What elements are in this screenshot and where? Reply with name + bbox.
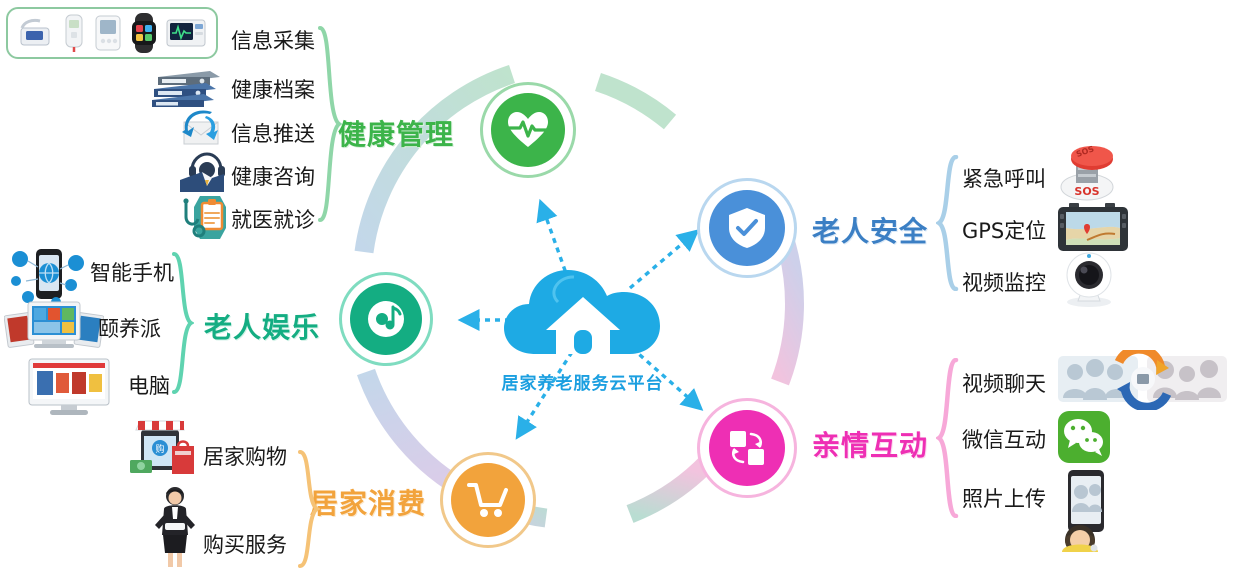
service-person-icon bbox=[152, 485, 198, 569]
center-platform-node[interactable]: 居家养老服务云平台 bbox=[500, 262, 665, 392]
entertain-item-1-label: 颐养派 bbox=[98, 313, 161, 343]
handheld-monitor-icon bbox=[94, 14, 122, 52]
family-item-2-label: 照片上传 bbox=[962, 483, 1046, 513]
stethoscope-clipboard-icon bbox=[180, 195, 228, 241]
safety-bracket bbox=[936, 155, 960, 291]
center-caption: 居家养老服务云平台 bbox=[500, 369, 665, 394]
sos-button-icon: SOS SOS bbox=[1056, 145, 1118, 203]
health-item-1-label: 健康档案 bbox=[231, 74, 315, 104]
hub-consume-icon-circle bbox=[451, 463, 525, 537]
family-item-1-label: 微信互动 bbox=[962, 424, 1046, 454]
interaction-swap-icon bbox=[726, 427, 768, 469]
hub-family-icon-circle bbox=[709, 410, 785, 486]
health-item-3-label: 健康咨询 bbox=[231, 161, 315, 191]
shopping-cart-icon bbox=[467, 481, 509, 519]
medical-devices-box[interactable] bbox=[6, 7, 218, 59]
wechat-icon bbox=[1057, 410, 1111, 464]
headset-consultant-icon bbox=[178, 152, 226, 194]
hub-consume[interactable] bbox=[440, 452, 536, 548]
mail-arrow-icon bbox=[180, 110, 222, 148]
health-item-0-label: 信息采集 bbox=[231, 25, 315, 55]
hub-consume-label: 居家消费 bbox=[310, 482, 426, 522]
glucose-meter-icon bbox=[61, 13, 87, 53]
family-bracket bbox=[936, 358, 960, 518]
hub-safety-label: 老人安全 bbox=[812, 210, 928, 250]
smartphone-network-icon bbox=[8, 245, 86, 307]
safety-item-1-label: GPS定位 bbox=[962, 215, 1046, 245]
tablet-trio-icon bbox=[4, 300, 104, 352]
security-camera-icon bbox=[1058, 250, 1120, 308]
entertain-item-2-label: 电脑 bbox=[128, 370, 170, 400]
safety-item-2-label: 视频监控 bbox=[962, 267, 1046, 297]
health-item-4-label: 就医就诊 bbox=[231, 204, 315, 234]
hub-safety[interactable] bbox=[697, 178, 797, 278]
shield-check-icon bbox=[728, 207, 766, 249]
smart-watch-icon bbox=[129, 12, 159, 54]
health-bracket bbox=[316, 26, 342, 222]
online-store-icon: 购 bbox=[128, 420, 198, 478]
hub-health-label: 健康管理 bbox=[338, 113, 454, 153]
entertain-bracket bbox=[170, 252, 194, 394]
diagram-canvas: 居家养老服务云平台 健康管理 老人安全 bbox=[0, 0, 1237, 571]
consume-item-0-label: 居家购物 bbox=[203, 441, 287, 471]
video-chat-icon bbox=[1057, 350, 1229, 410]
desktop-computer-icon bbox=[28, 358, 110, 416]
hub-family[interactable] bbox=[697, 398, 797, 498]
photo-upload-icon bbox=[1058, 468, 1114, 552]
hub-safety-icon-circle bbox=[709, 190, 785, 266]
hub-entertain-label: 老人娱乐 bbox=[204, 306, 320, 346]
consume-bracket bbox=[296, 450, 320, 568]
consume-item-1-label: 购买服务 bbox=[203, 529, 287, 559]
safety-item-0-label: 紧急呼叫 bbox=[962, 163, 1046, 193]
entertain-item-0-label: 智能手机 bbox=[90, 257, 174, 287]
patient-monitor-icon bbox=[166, 17, 206, 49]
file-binders-icon bbox=[152, 67, 224, 109]
hub-entertain-icon-circle bbox=[350, 283, 422, 355]
hub-entertain[interactable] bbox=[339, 272, 433, 366]
heart-pulse-icon bbox=[507, 111, 549, 149]
music-disc-icon bbox=[366, 299, 406, 339]
hub-health[interactable] bbox=[480, 82, 576, 178]
hub-health-icon-circle bbox=[491, 93, 565, 167]
blood-pressure-monitor-icon bbox=[18, 16, 54, 50]
svg-text:购: 购 bbox=[155, 443, 164, 455]
family-item-0-label: 视频聊天 bbox=[962, 368, 1046, 398]
svg-text:SOS: SOS bbox=[1074, 185, 1099, 198]
cloud-home-icon bbox=[500, 262, 665, 362]
health-item-2-label: 信息推送 bbox=[231, 118, 315, 148]
hub-family-label: 亲情互动 bbox=[812, 424, 928, 464]
gps-device-icon bbox=[1057, 202, 1129, 254]
